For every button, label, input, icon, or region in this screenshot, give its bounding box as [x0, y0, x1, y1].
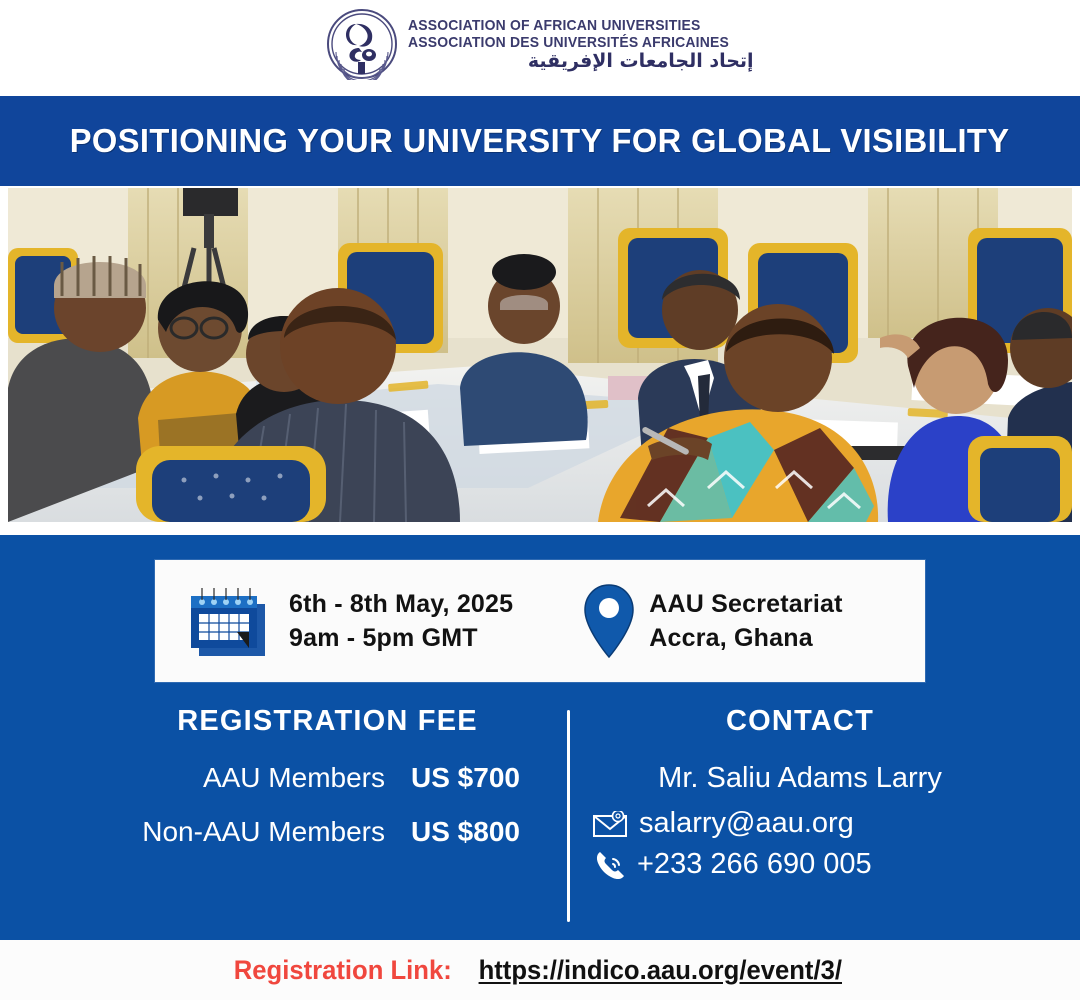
event-info-card: 6th - 8th May, 2025 9am - 5pm GMT AAU Se…	[155, 560, 925, 682]
envelope-icon	[593, 811, 627, 837]
fee-contact-columns: REGISTRATION FEE AAU Members US $700 Non…	[0, 705, 1080, 930]
logo-lockup: ASSOCIATION OF AFRICAN UNIVERSITIES ASSO…	[326, 8, 753, 80]
fee-row-members: AAU Members US $700	[95, 762, 560, 794]
registration-link-strip: Registration Link: https://indico.aau.or…	[0, 940, 1080, 1000]
logo-header: ASSOCIATION OF AFRICAN UNIVERSITIES ASSO…	[0, 0, 1080, 88]
logo-text-block: ASSOCIATION OF AFRICAN UNIVERSITIES ASSO…	[408, 18, 753, 71]
logo-line-arabic: إتحاد الجامعات الإفريقية	[408, 52, 753, 71]
fee-label-non-members: Non-AAU Members	[117, 816, 385, 848]
column-divider	[567, 710, 570, 922]
date-block: 6th - 8th May, 2025 9am - 5pm GMT	[187, 582, 513, 660]
registration-fee-heading: REGISTRATION FEE	[177, 705, 478, 738]
contact-person-name: Mr. Saliu Adams Larry	[658, 762, 942, 795]
event-photo-illustration	[8, 188, 1072, 522]
contact-phone[interactable]: +233 266 690 005	[637, 848, 872, 881]
event-times: 9am - 5pm GMT	[289, 624, 513, 653]
location-lines: AAU Secretariat Accra, Ghana	[649, 590, 842, 653]
location-block: AAU Secretariat Accra, Ghana	[581, 581, 842, 661]
fee-amount-non-members: US $800	[411, 816, 520, 848]
contact-phone-row[interactable]: +233 266 690 005	[575, 848, 1025, 881]
map-pin-icon	[581, 581, 637, 661]
venue-name: AAU Secretariat	[649, 590, 842, 619]
calendar-icon	[187, 582, 271, 660]
registration-fee-column: REGISTRATION FEE AAU Members US $700 Non…	[95, 705, 560, 870]
logo-line-english: ASSOCIATION OF AFRICAN UNIVERSITIES	[408, 18, 729, 33]
registration-link-url[interactable]: https://indico.aau.org/event/3/	[479, 955, 842, 986]
phone-icon	[593, 849, 625, 881]
contact-column: CONTACT Mr. Saliu Adams Larry salarry@aa…	[575, 705, 1025, 889]
event-photo	[8, 188, 1072, 522]
contact-heading: CONTACT	[726, 705, 874, 738]
aau-emblem-icon	[326, 8, 398, 80]
date-lines: 6th - 8th May, 2025 9am - 5pm GMT	[289, 590, 513, 653]
fee-label-members: AAU Members	[117, 762, 385, 794]
fee-row-non-members: Non-AAU Members US $800	[95, 816, 560, 848]
event-dates: 6th - 8th May, 2025	[289, 590, 513, 619]
registration-link-label: Registration Link:	[234, 955, 452, 986]
fee-amount-members: US $700	[411, 762, 520, 794]
contact-email-row[interactable]: salarry@aau.org	[575, 807, 1025, 840]
contact-email[interactable]: salarry@aau.org	[639, 807, 854, 840]
title-banner: POSITIONING YOUR UNIVERSITY FOR GLOBAL V…	[0, 96, 1080, 186]
page-title: POSITIONING YOUR UNIVERSITY FOR GLOBAL V…	[70, 122, 1010, 160]
logo-line-french: ASSOCIATION DES UNIVERSITÉS AFRICAINES	[408, 35, 729, 50]
venue-city: Accra, Ghana	[649, 624, 842, 653]
